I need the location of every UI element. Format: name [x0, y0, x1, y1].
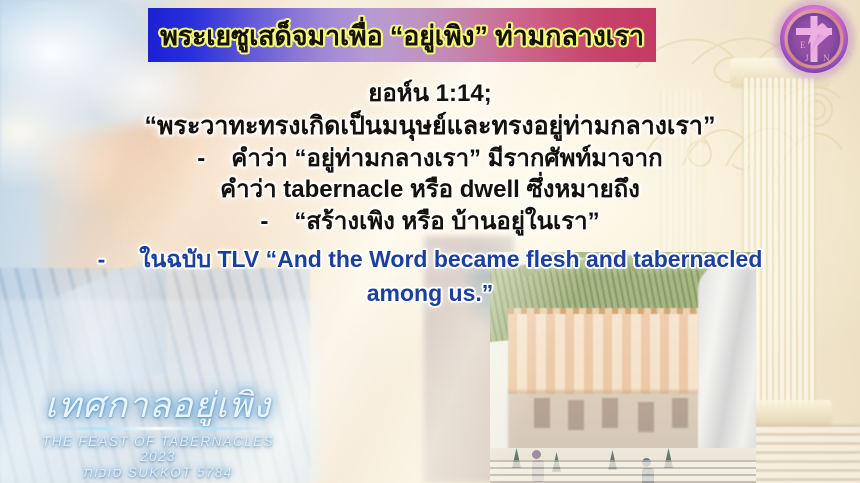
line-text: ในฉบับ TLV “And the Word became flesh an… [139, 246, 762, 272]
bullet-dash: - [260, 208, 268, 235]
bullet-dash: - [197, 145, 205, 172]
bullet-line-3b: among us.” [18, 278, 842, 308]
line-text: คำว่า “อยู่ท่ามกลางเรา” มีรากศัพท์มาจาก [231, 145, 662, 172]
bullet-line-2: -“สร้างเพิง หรือ บ้านอยู่ในเรา” [18, 206, 842, 238]
line-text: ยอห์น 1:14; [368, 80, 491, 107]
festival-logo-divider [44, 427, 272, 430]
slide-title-banner: พระเยซูเสด็จมาเพื่อ “อยู่เพิง” ท่ามกลางเ… [148, 8, 656, 62]
church-logo: E J N [778, 3, 850, 75]
presentation-slide: พระเยซูเสด็จมาเพื่อ “อยู่เพิง” ท่ามกลางเ… [0, 0, 860, 483]
scripture-verse-line: “พระวาทะทรงเกิดเป็นมนุษย์และทรงอยู่ท่ามก… [18, 110, 842, 143]
festival-logo-thai-title: เทศกาลอยู่เพิง [24, 388, 292, 424]
line-text: “สร้างเพิง หรือ บ้านอยู่ในเรา” [294, 208, 599, 235]
bullet-line-1b: คำว่า tabernacle หรือ dwell ซึ่งหมายถึง [18, 174, 842, 206]
slide-body-text: ยอห์น 1:14; “พระวาทะทรงเกิดเป็นมนุษย์และ… [18, 78, 842, 308]
bullet-line-3a: -ในฉบับ TLV “And the Word became flesh a… [18, 244, 842, 274]
bullet-dash: - [98, 246, 106, 272]
church-logo-glow [772, 0, 856, 81]
line-text: among us.” [367, 280, 494, 306]
bullet-line-1a: -คำว่า “อยู่ท่ามกลางเรา” มีรากศัพท์มาจาก [18, 143, 842, 175]
festival-logo-english-subtitle: THE FEAST OF TABERNACLES 2023 [24, 434, 292, 464]
festival-logo: เทศกาลอยู่เพิง THE FEAST OF TABERNACLES … [24, 388, 292, 480]
line-text: “พระวาทะทรงเกิดเป็นมนุษย์และทรงอยู่ท่ามก… [145, 112, 716, 140]
festival-logo-hebrew-line: סוכות SUKKOT 5784 [24, 465, 292, 480]
line-text: คำว่า tabernacle หรือ dwell ซึ่งหมายถึง [220, 176, 640, 203]
scripture-reference-line: ยอห์น 1:14; [18, 78, 842, 110]
slide-title-text: พระเยซูเสด็จมาเพื่อ “อยู่เพิง” ท่ามกลางเ… [160, 14, 644, 57]
